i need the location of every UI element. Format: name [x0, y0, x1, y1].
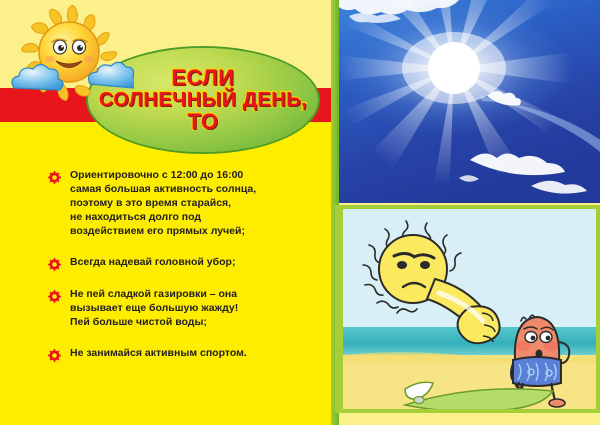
list-item-text: Всегда надевай головной убор;: [70, 255, 328, 269]
angry-sun-punching-man-illustration: [339, 209, 600, 413]
sun-bullet-icon: [48, 258, 61, 271]
poster-root: ЕСЛИ СОЛНЕЧНЫЙ ДЕНЬ, ТО: [0, 0, 600, 425]
vertical-green-divider: [331, 0, 339, 425]
list-item-text: Не занимайся активным спортом.: [70, 346, 328, 360]
list-item: Всегда надевай головной убор;: [48, 255, 328, 269]
title-line-1: ЕСЛИ: [171, 67, 234, 89]
advice-list: Ориентировочно с 12:00 до 16:00самая бол…: [48, 168, 328, 377]
list-item-text: Не пей сладкой газировки – онавызывает е…: [70, 287, 328, 329]
list-item-text: Ориентировочно с 12:00 до 16:00самая бол…: [70, 168, 328, 238]
sun-bullet-icon: [48, 171, 61, 184]
bright-sun-sky-photo: [339, 0, 600, 203]
smiling-sun-mascot-icon: [6, 4, 134, 116]
list-item: Ориентировочно с 12:00 до 16:00самая бол…: [48, 168, 328, 238]
sun-bullet-icon: [48, 349, 61, 362]
sun-bullet-icon: [48, 290, 61, 303]
title-line-3: ТО: [187, 111, 218, 133]
list-item: Не пей сладкой газировки – онавызывает е…: [48, 287, 328, 329]
list-item: Не занимайся активным спортом.: [48, 346, 328, 360]
